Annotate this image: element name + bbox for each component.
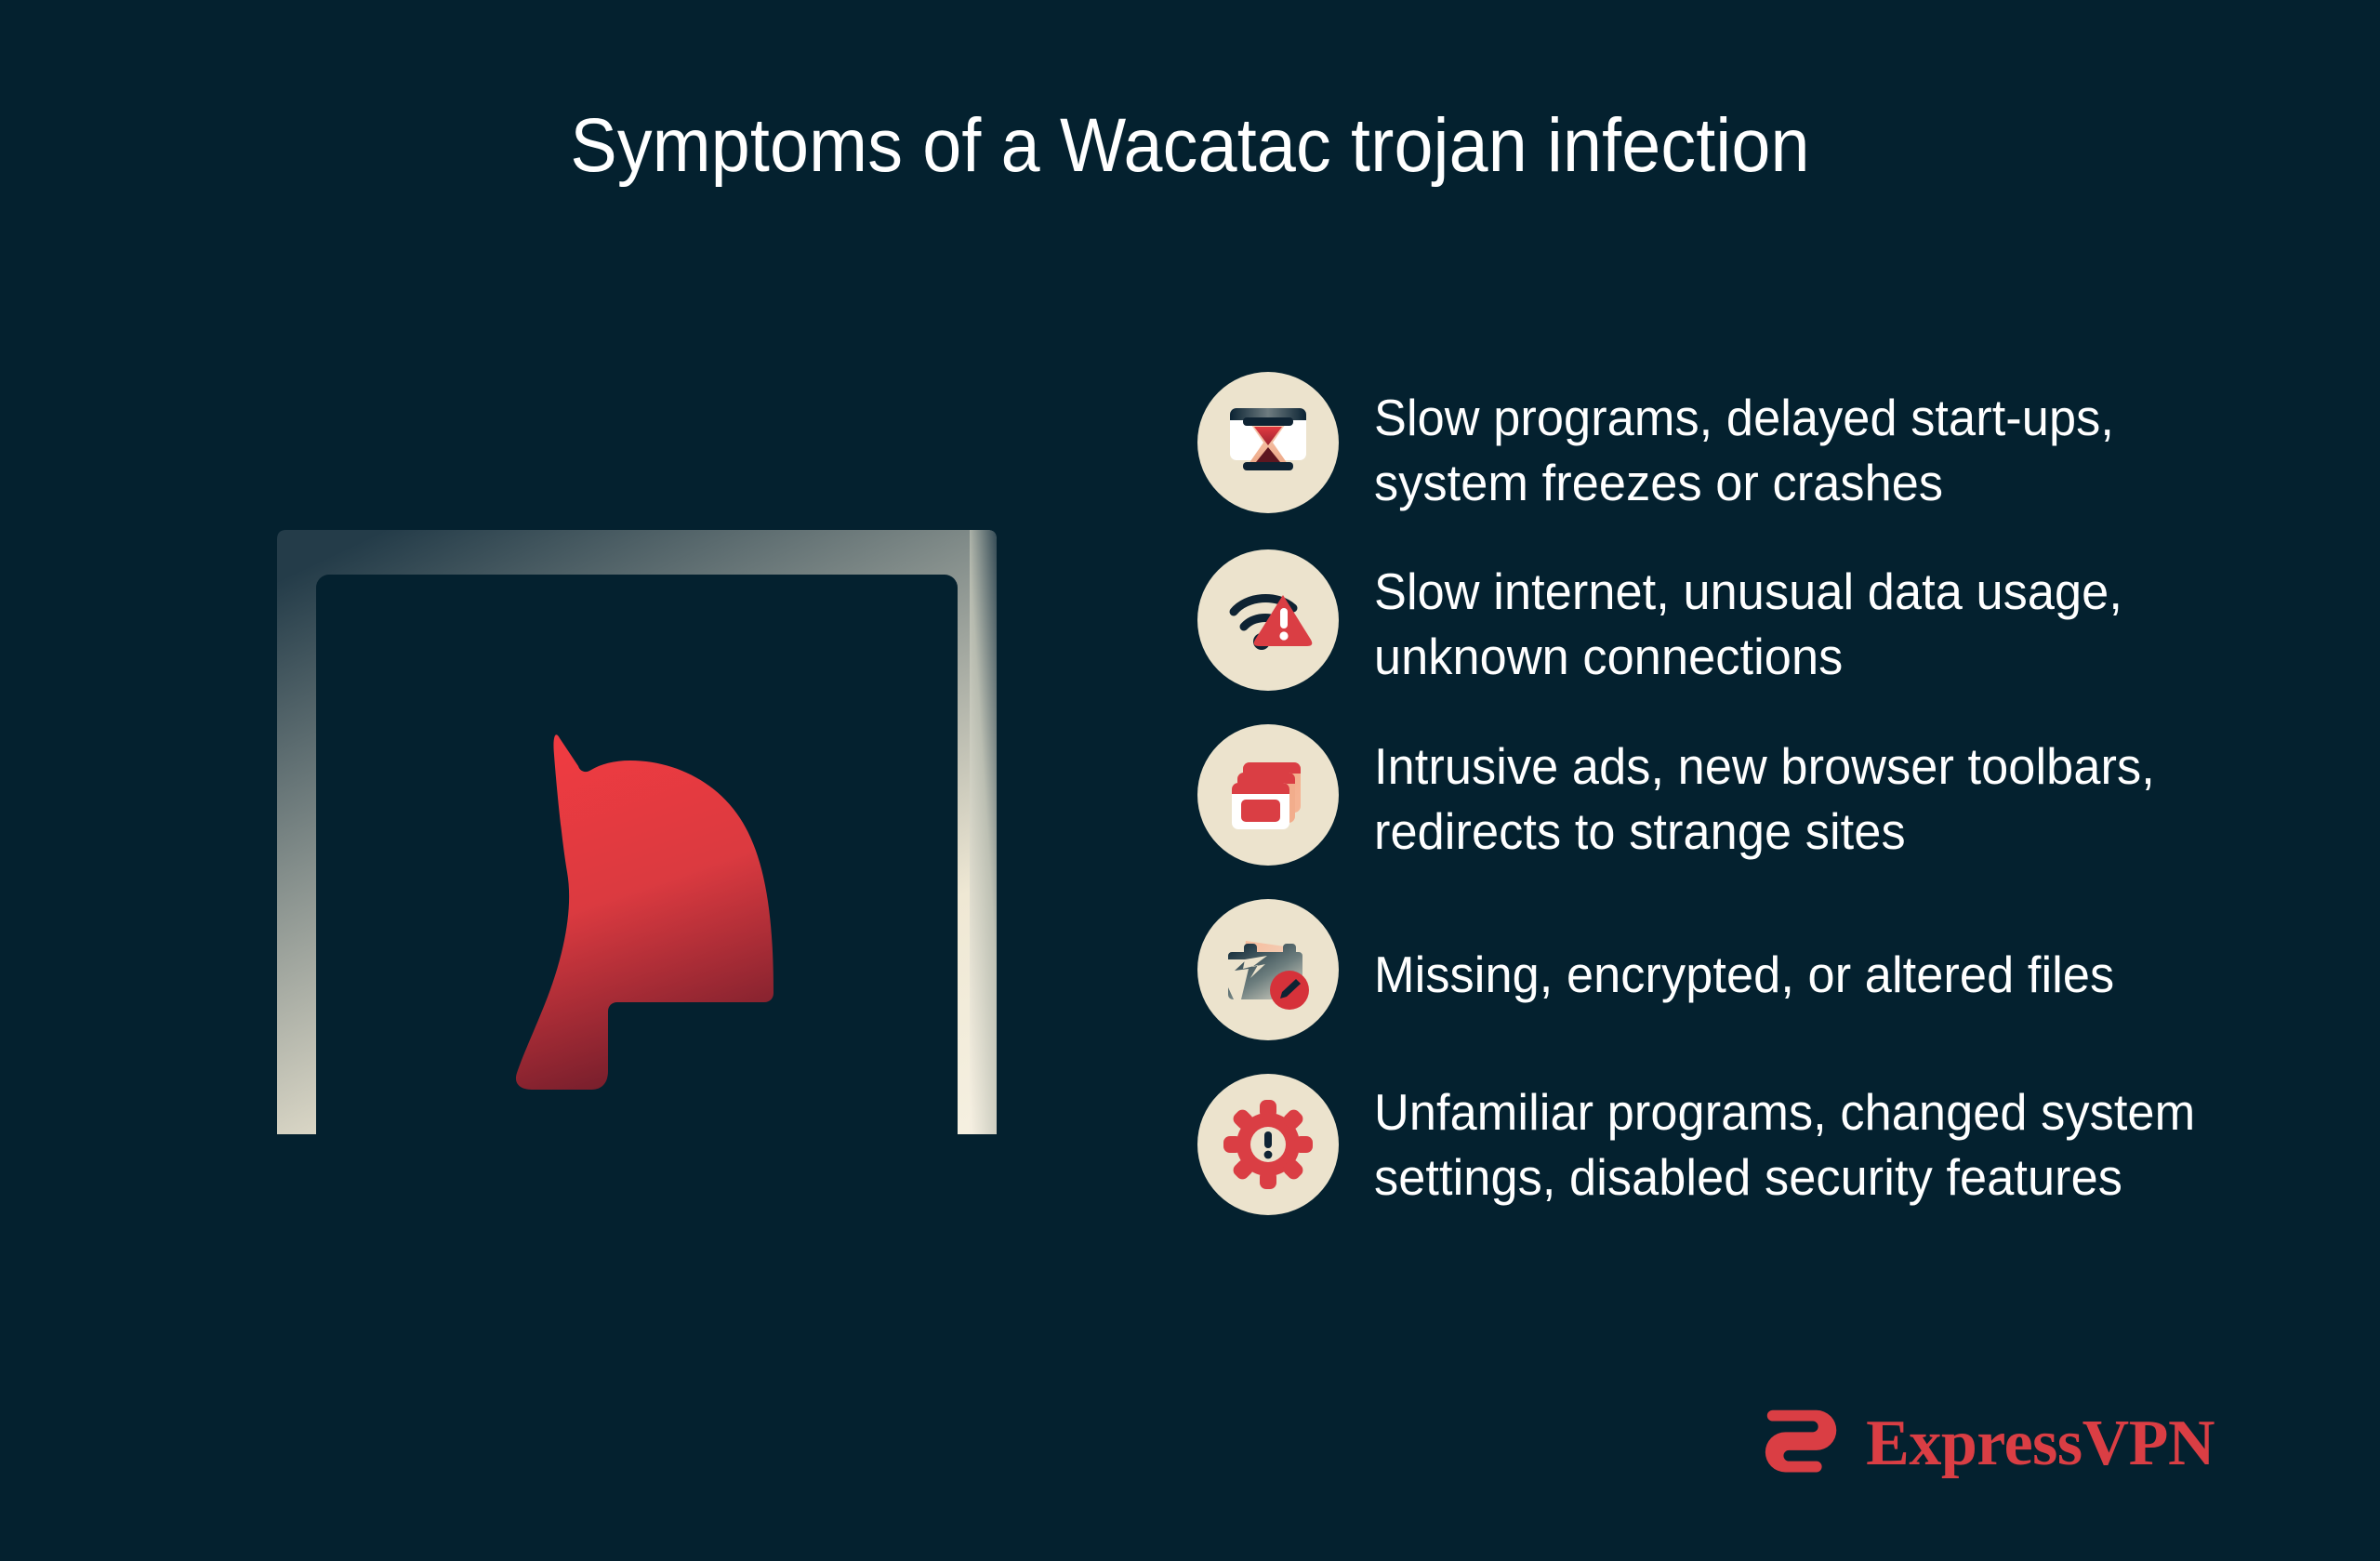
stacked-popup-ads-icon (1197, 724, 1339, 866)
symptom-item: Slow programs, delayed start-ups, system… (1197, 372, 2294, 516)
symptom-list: Slow programs, delayed start-ups, system… (1197, 372, 2294, 1215)
symptom-label: Slow internet, unusual data usage, unkno… (1374, 549, 2222, 690)
symptom-item: Slow internet, unusual data usage, unkno… (1197, 549, 2294, 691)
expressvpn-wordmark: ExpressVPN (1866, 1411, 2215, 1476)
laptop-lid-edge (970, 530, 997, 1134)
wifi-warning-icon (1197, 549, 1339, 691)
page-title: Symptoms of a Wacatac trojan infection (95, 104, 2284, 188)
symptom-item: Unfamiliar programs, changed system sett… (1197, 1074, 2294, 1215)
symptom-label: Intrusive ads, new browser toolbars, red… (1374, 724, 2222, 865)
infographic-canvas: Symptoms of a Wacatac trojan infection (0, 0, 2380, 1561)
laptop-with-trojan-horse-illustration (139, 502, 1134, 1134)
laptop-svg (139, 502, 1134, 1134)
symptom-item: Intrusive ads, new browser toolbars, red… (1197, 724, 2294, 866)
symptom-label: Unfamiliar programs, changed system sett… (1374, 1074, 2222, 1210)
hourglass-window-icon (1197, 372, 1339, 513)
broken-folder-edit-icon (1197, 899, 1339, 1040)
gear-alert-icon (1197, 1074, 1339, 1215)
symptom-item: Missing, encrypted, or altered files (1197, 899, 2294, 1040)
symptom-label: Missing, encrypted, or altered files (1374, 899, 2114, 1007)
expressvpn-e-mark-icon (1756, 1399, 1845, 1488)
symptom-label: Slow programs, delayed start-ups, system… (1374, 372, 2222, 516)
expressvpn-logo: ExpressVPN (1756, 1399, 2215, 1488)
